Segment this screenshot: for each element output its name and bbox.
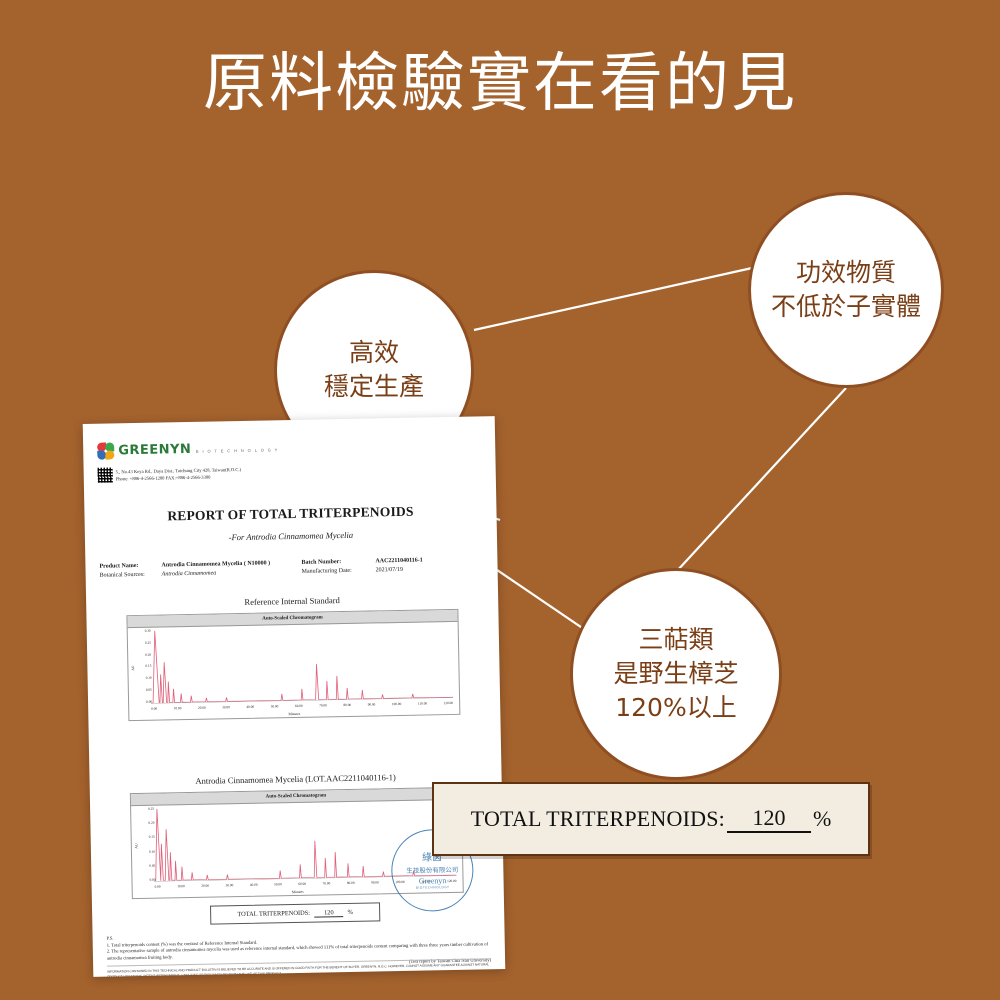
chart1-xtick-10: 100.00 (392, 702, 401, 708)
chart1-xtick-5: 50.00 (271, 704, 279, 710)
chart1-xtick-11: 110.00 (418, 701, 427, 707)
bubble-efficacy: 功效物質 不低於子實體 (748, 192, 944, 388)
magnified-total-callout: TOTAL TRITERPENOIDS: 120 % (432, 782, 870, 856)
seal-line4: BIOTECHNOLOGY (416, 885, 450, 890)
section-title-reference: Reference Internal Standard (86, 592, 498, 610)
chart1-xtick-12: 120.00 (444, 701, 453, 707)
batch-number-value: AAC2211040116-1 (375, 556, 483, 564)
bubble-production-line2: 穩定生產 (324, 370, 424, 404)
brand-text-block: GREENYN B I O T E C H N O L O G Y (118, 438, 279, 459)
company-address-block: 5., No.43 Keya Rd., Daya Dist., Taichung… (116, 466, 242, 483)
chart2-xtick-8: 80.00 (347, 881, 355, 887)
batch-number-label: Batch Number: (301, 558, 375, 565)
bubble-efficacy-line2: 不低於子實體 (771, 290, 921, 324)
chart1-xtick-7: 70.00 (319, 703, 327, 709)
callout-value: 120 (727, 805, 811, 833)
bubble-triterpenoids: 三萜類 是野生樟芝 120%以上 (570, 568, 782, 780)
seal-line2: 生技股份有限公司 (406, 863, 458, 874)
brand-name: GREENYN (118, 442, 191, 458)
botanical-source-label: Botanical Sources: (100, 572, 162, 579)
greenyn-logo-icon (97, 442, 114, 459)
chart2-xtick-3: 30.00 (226, 883, 234, 889)
product-name-label: Product Name: (99, 563, 161, 570)
chart1-xtick-2: 20.00 (198, 706, 206, 712)
chart1-xtick-3: 30.00 (222, 705, 230, 711)
chart2-xtick-7: 70.00 (323, 881, 331, 887)
poster-canvas: 原料檢驗實在看的見 功效物質 不低於子實體 高效 穩定生產 三萜類 是野生樟芝 … (0, 0, 1000, 1000)
report-title: REPORT OF TOTAL TRITERPENOIDS (84, 502, 496, 526)
bubble-triterpenoids-line1: 三萜類 (613, 623, 738, 657)
callout-label: TOTAL TRITERPENOIDS: (471, 806, 725, 832)
total-triterpenoids-box: TOTAL TRITERPENOIDS: 120 % (210, 902, 380, 924)
chart1-xtick-9: 90.00 (368, 702, 376, 708)
company-phone: Phone: +886-4-2566-1200 FAX:+886-4-2566-… (116, 473, 242, 483)
chart2-xtick-4: 40.00 (250, 883, 258, 889)
chart2-xtick-9: 90.00 (371, 880, 379, 886)
bubble-triterpenoids-line2: 是野生樟芝 (613, 657, 738, 691)
report-subtitle: -For Antrodia Cinnamomea Mycelia (85, 527, 497, 545)
chart1-xtick-1: 10.00 (174, 706, 182, 712)
bubble-efficacy-line1: 功效物質 (771, 256, 921, 290)
chromatogram-reference: Auto-Scaled Chromatogram AU 0.30 0.25 0.… (126, 609, 460, 721)
chart1-xtick-0: 0.00 (151, 707, 157, 713)
chart2-xtick-0: 0.00 (155, 885, 161, 891)
total-triterpenoids-unit: % (348, 909, 353, 916)
chart2-xtick-2: 20.00 (201, 884, 209, 890)
bubble-triterpenoids-line3: 120%以上 (613, 691, 738, 725)
bubble-production-line1: 高效 (324, 336, 424, 370)
botanical-source-value: Antrodia Cinnamomea (162, 569, 302, 578)
brand-tagline: B I O T E C H N O L O G Y (196, 447, 279, 454)
chart1-plot (150, 623, 453, 704)
chart1-xtick-8: 80.00 (343, 703, 351, 709)
product-name-value: Antrodia Cinnamomea Mycelia ( N10000 ) (161, 560, 301, 569)
brand-logo: GREENYN B I O T E C H N O L O G Y (97, 438, 279, 459)
chart1-xtick-4: 40.00 (246, 705, 254, 711)
report-meta: Product Name: Antrodia Cinnamomea Myceli… (99, 556, 483, 581)
mfg-date-label: Manufacturing Date: (302, 567, 376, 574)
chart2-xtick-6: 60.00 (298, 882, 306, 888)
chart2-xtick-5: 50.00 (274, 882, 282, 888)
total-triterpenoids-value: 120 (314, 909, 344, 918)
chart2-xtick-1: 10.00 (177, 884, 185, 890)
certificate-document: GREENYN B I O T E C H N O L O G Y 5., No… (83, 416, 506, 977)
total-triterpenoids-label: TOTAL TRITERPENOIDS: (237, 910, 310, 918)
page-title: 原料檢驗實在看的見 (0, 48, 1000, 122)
callout-unit: % (813, 806, 831, 832)
mfg-date-value: 2021/07/19 (376, 565, 484, 573)
qr-code-icon (98, 467, 113, 482)
chart1-xtick-6: 60.00 (295, 704, 303, 710)
